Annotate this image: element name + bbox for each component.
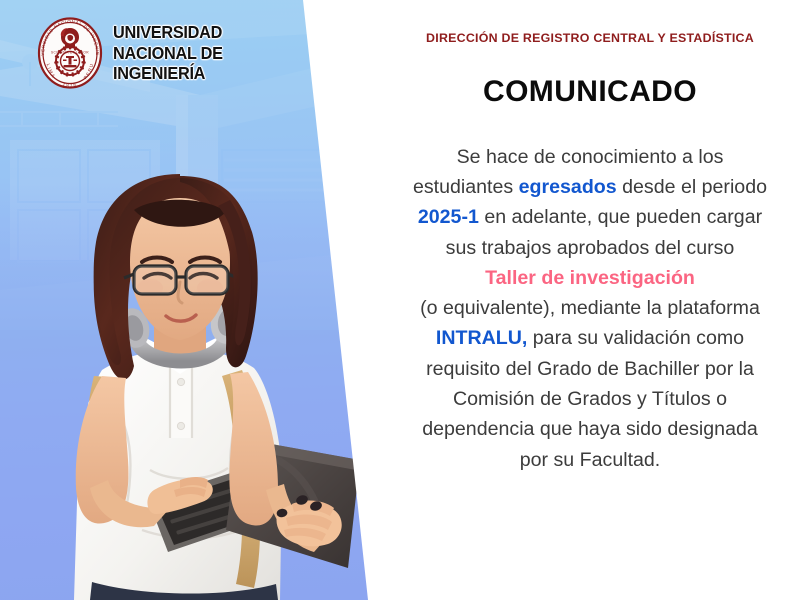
announcement-line: sus trabajos aprobados del curso	[388, 233, 792, 263]
page-title: COMUNICADO	[388, 75, 792, 109]
announcement-line: (o equivalente), mediante la plataforma	[388, 293, 792, 323]
announcement-line: requisito del Grado de Bachiller por la	[388, 354, 792, 384]
communique-poster: UNIVERSIDAD NACIONAL DE INGENIERIA LIMA …	[0, 0, 800, 600]
wordmark-line-1: UNIVERSIDAD	[113, 22, 223, 43]
text-segment: por su Facultad.	[520, 449, 661, 471]
text-segment: (o equivalente), mediante la plataforma	[420, 297, 760, 319]
university-logo: UNIVERSIDAD NACIONAL DE INGENIERIA LIMA …	[36, 17, 231, 89]
left-blue-panel: UNIVERSIDAD NACIONAL DE INGENIERIA LIMA …	[0, 0, 380, 600]
announcement-line: por su Facultad.	[388, 445, 792, 475]
svg-text:SCIENTIA ET LABOR: SCIENTIA ET LABOR	[51, 50, 89, 54]
announcement-line: dependencia que haya sido designada	[388, 414, 792, 444]
university-wordmark: UNIVERSIDAD NACIONAL DE INGENIERÍA	[113, 22, 223, 84]
announcement-line: 2025-1 en adelante, que pueden cargar	[388, 202, 792, 232]
announcement-content: DIRECCIÓN DE REGISTRO CENTRAL Y ESTADÍST…	[380, 0, 800, 600]
announcement-line: estudiantes egresados desde el periodo	[388, 172, 792, 202]
announcement-line: INTRALU, para su validación como	[388, 323, 792, 353]
text-segment: en adelante, que pueden cargar	[479, 206, 762, 228]
highlight-blue: egresados	[519, 176, 617, 198]
announcement-line: Se hace de conocimiento a los	[388, 142, 792, 172]
announcement-line: Taller de investigación	[388, 263, 792, 293]
highlight-blue: 2025-1	[418, 206, 479, 228]
wordmark-line-3: INGENIERÍA	[113, 63, 223, 84]
text-segment: Se hace de conocimiento a los	[457, 146, 724, 168]
highlight-blue: INTRALU,	[436, 327, 527, 349]
text-segment: Comisión de Grados y Títulos o	[453, 388, 727, 410]
highlight-pink: Taller de investigación	[485, 267, 695, 289]
department-heading: DIRECCIÓN DE REGISTRO CENTRAL Y ESTADÍST…	[388, 31, 792, 46]
announcement-body: Se hace de conocimiento a losestudiantes…	[388, 142, 792, 475]
announcement-line: Comisión de Grados y Títulos o	[388, 384, 792, 414]
text-segment: para su validación como	[527, 327, 744, 349]
text-segment: desde el periodo	[617, 176, 767, 198]
text-segment: dependencia que haya sido designada	[422, 418, 758, 440]
uni-seal-icon: UNIVERSIDAD NACIONAL DE INGENIERIA LIMA …	[36, 17, 104, 89]
text-segment: estudiantes	[413, 176, 519, 198]
text-segment: requisito del Grado de Bachiller por la	[426, 358, 754, 380]
text-segment: sus trabajos aprobados del curso	[446, 237, 735, 259]
wordmark-line-2: NACIONAL DE	[113, 43, 223, 64]
student-with-laptop-photo	[30, 170, 380, 600]
